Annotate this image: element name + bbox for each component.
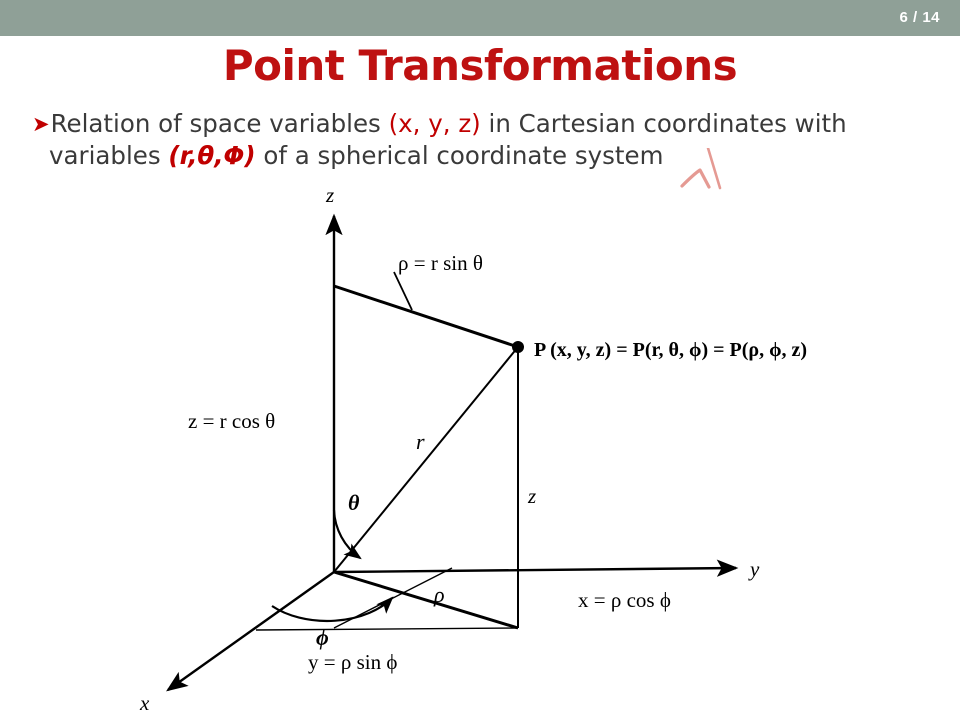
axis-label-x: x: [139, 691, 150, 715]
line-radius-r: [334, 347, 518, 572]
leader-line-rho-eq: [394, 272, 412, 310]
label-z-equation: z = r cos θ: [188, 409, 275, 433]
axis-line-y: [334, 568, 736, 572]
point-p-marker: [512, 341, 524, 353]
label-x-equation: x = ρ cos ϕ: [578, 588, 671, 612]
bullet-line2: variables (r,θ,Φ) of a spherical coordin…: [32, 140, 932, 171]
header-bar: 6 / 14: [0, 0, 960, 36]
bullet-line2-part1: variables: [49, 141, 168, 170]
bullet-line2-part2: of a spherical coordinate system: [256, 141, 664, 170]
line-top-to-point: [334, 286, 518, 347]
bullet-line1-part1: Relation of space variables: [51, 109, 389, 138]
label-point-p: P (x, y, z) = P(r, θ, ϕ) = P(ρ, ϕ, z): [534, 339, 807, 361]
angle-label-theta: θ: [348, 490, 360, 515]
bullet-line1-part2: in Cartesian coordinates with: [481, 109, 847, 138]
bullet-line2-highlight: (r,θ,Φ): [168, 141, 255, 170]
line-plane-x-leg: [256, 628, 518, 630]
label-z-segment: z: [527, 484, 536, 508]
label-radius-r: r: [416, 429, 425, 454]
label-rho: ρ: [433, 582, 445, 607]
angle-arc-phi: [272, 598, 392, 621]
label-rho-equation: ρ = r sin θ: [398, 251, 483, 275]
line-rho-projection: [334, 572, 518, 628]
bullet-text-block: ➤Relation of space variables (x, y, z) i…: [32, 108, 932, 171]
bullet-arrow-icon: ➤: [32, 112, 50, 136]
spherical-coordinates-diagram: z y x θ ϕ ρ = r sin θ: [0, 176, 960, 720]
angle-arc-theta: [334, 510, 360, 558]
bullet-line1-highlight: (x, y, z): [389, 109, 481, 138]
page-title: Point Transformations: [0, 44, 960, 88]
slide-canvas: 6 / 14 Point Transformations ➤Relation o…: [0, 0, 960, 720]
axis-label-y: y: [748, 557, 760, 581]
axis-label-z: z: [325, 183, 334, 207]
label-y-equation: y = ρ sin ϕ: [308, 650, 397, 674]
angle-label-phi: ϕ: [316, 625, 329, 650]
page-indicator: 6 / 14: [899, 0, 940, 36]
